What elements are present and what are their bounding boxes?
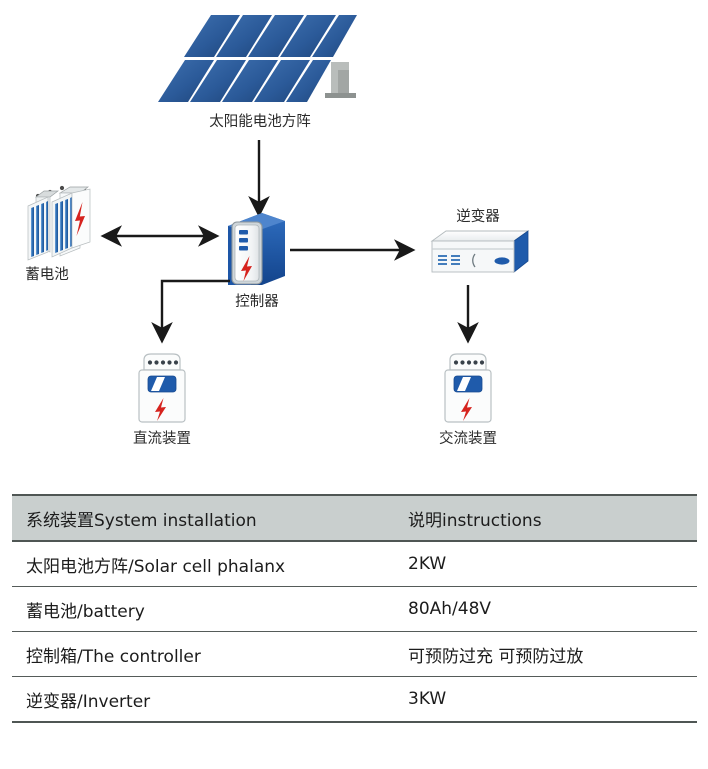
- table-cell-device: 蓄电池/battery: [12, 587, 398, 632]
- inverter-power-indicator-icon: [495, 257, 510, 264]
- table-row: 蓄电池/battery 80Ah/48V: [12, 587, 697, 632]
- system-spec-table: 系统装置System installation 说明instructions 太…: [12, 494, 697, 723]
- inverter-label: 逆变器: [456, 208, 500, 225]
- system-diagram: 太阳能电池方阵: [0, 0, 708, 480]
- table-cell-spec: 80Ah/48V: [398, 587, 697, 632]
- controller-led-2-icon: [239, 238, 248, 243]
- table-cell-spec: 3KW: [398, 677, 697, 723]
- table-row: 控制箱/The controller 可预防过充 可预防过放: [12, 632, 697, 677]
- battery-label: 蓄电池: [25, 266, 69, 283]
- table-header-system-installation: 系统装置System installation: [12, 495, 398, 541]
- battery-icon: [28, 186, 90, 260]
- controller-label: 控制器: [235, 293, 279, 310]
- table-cell-spec: 2KW: [398, 541, 697, 587]
- table-header-instructions: 说明instructions: [398, 495, 697, 541]
- arrow-controller-to-dc-device: [162, 281, 230, 340]
- controller-icon: [228, 213, 285, 285]
- table-cell-device: 控制箱/The controller: [12, 632, 398, 677]
- inverter-icon: [432, 231, 528, 272]
- dc-device-icon: [139, 354, 185, 422]
- table-cell-spec: 可预防过充 可预防过放: [398, 632, 697, 677]
- ac-device-icon: [445, 354, 491, 422]
- table-row: 逆变器/Inverter 3KW: [12, 677, 697, 723]
- controller-led-1-icon: [239, 230, 248, 235]
- solar-array-icon: [155, 15, 357, 102]
- solar-array-label: 太阳能电池方阵: [209, 113, 311, 130]
- dc-device-label: 直流装置: [133, 430, 191, 447]
- solar-array-bracket-icon: [325, 62, 356, 98]
- table-row: 太阳电池方阵/Solar cell phalanx 2KW: [12, 541, 697, 587]
- table-header-row: 系统装置System installation 说明instructions: [12, 495, 697, 541]
- ac-device-label: 交流装置: [439, 429, 497, 447]
- table-cell-device: 太阳电池方阵/Solar cell phalanx: [12, 541, 398, 587]
- table-cell-device: 逆变器/Inverter: [12, 677, 398, 723]
- controller-led-3-icon: [239, 246, 248, 251]
